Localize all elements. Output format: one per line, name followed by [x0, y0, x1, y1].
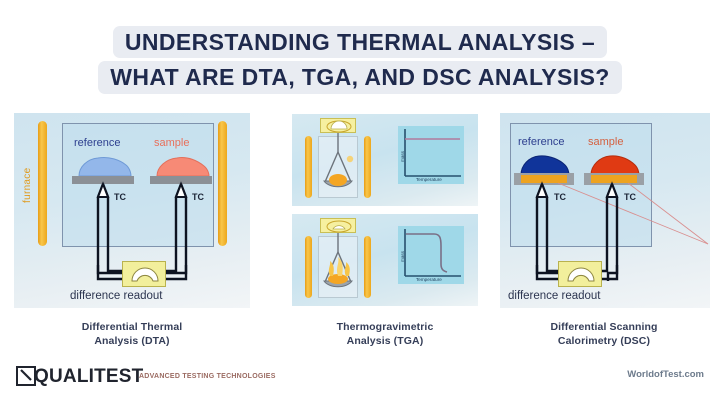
dsc-thermocouple-wiring — [500, 113, 710, 308]
panel-dsc: reference sample — [500, 113, 710, 308]
caption-dsc-line2: Calorimetry (DSC) — [558, 335, 650, 347]
dsc-diagram: reference sample — [500, 113, 710, 308]
dsc-tc-left-label: TC — [554, 192, 566, 202]
caption-tga-line1: Thermogravimetric — [337, 321, 434, 333]
qualitest-logo-icon — [16, 366, 36, 386]
dta-tc-left-label: TC — [114, 192, 126, 202]
caption-dta-line2: Analysis (DTA) — [94, 335, 169, 347]
tga-top-chart-svg — [398, 126, 464, 184]
caption-dsc: Differential Scanning Calorimetry (DSC) — [498, 320, 710, 348]
site-url: WorldofTest.com — [627, 369, 704, 380]
dsc-difference-meter — [558, 261, 602, 287]
dsc-meter-gauge-icon — [559, 262, 603, 288]
dsc-readout-label: difference readout — [508, 290, 601, 302]
tga-top-ylabel: mass — [400, 151, 405, 162]
caption-dta: Differential Thermal Analysis (DTA) — [14, 320, 250, 348]
panel-tga-top: mass Temperature — [292, 114, 478, 206]
tga-bottom-chart — [398, 226, 464, 284]
title-line-1: UNDERSTANDING THERMAL ANALYSIS – — [113, 26, 607, 58]
panel-dta: furnace reference sample — [14, 113, 250, 308]
dsc-tc-right-label: TC — [624, 192, 636, 202]
dta-diagram: furnace reference sample — [14, 113, 250, 308]
tga-top-chart — [398, 126, 464, 184]
tga-bottom-chart-svg — [398, 226, 464, 284]
tga-bottom-xlabel: Temperature — [416, 277, 442, 282]
dta-readout-label: difference readout — [70, 290, 163, 302]
logo-slash-icon — [20, 369, 32, 381]
caption-dta-line1: Differential Thermal — [82, 321, 183, 333]
dta-difference-meter — [122, 261, 166, 287]
page-title: UNDERSTANDING THERMAL ANALYSIS – WHAT AR… — [0, 26, 720, 94]
dta-meter-gauge-icon — [123, 262, 167, 288]
qualitest-tagline: ADVANCED TESTING TECHNOLOGIES — [139, 373, 276, 380]
panel-tga-bottom: mass Temperature — [292, 214, 478, 306]
caption-tga: Thermogravimetric Analysis (TGA) — [292, 320, 478, 348]
caption-tga-line2: Analysis (TGA) — [347, 335, 424, 347]
infographic-page: UNDERSTANDING THERMAL ANALYSIS – WHAT AR… — [0, 0, 720, 404]
qualitest-logo-text: QUALITEST — [34, 366, 143, 388]
dta-tc-right-label: TC — [192, 192, 204, 202]
title-line-2: WHAT ARE DTA, TGA, AND DSC ANALYSIS? — [98, 61, 622, 93]
caption-dsc-line1: Differential Scanning — [550, 321, 657, 333]
tga-top-xlabel: Temperature — [416, 177, 442, 182]
tga-bottom-ylabel: mass — [400, 251, 405, 262]
